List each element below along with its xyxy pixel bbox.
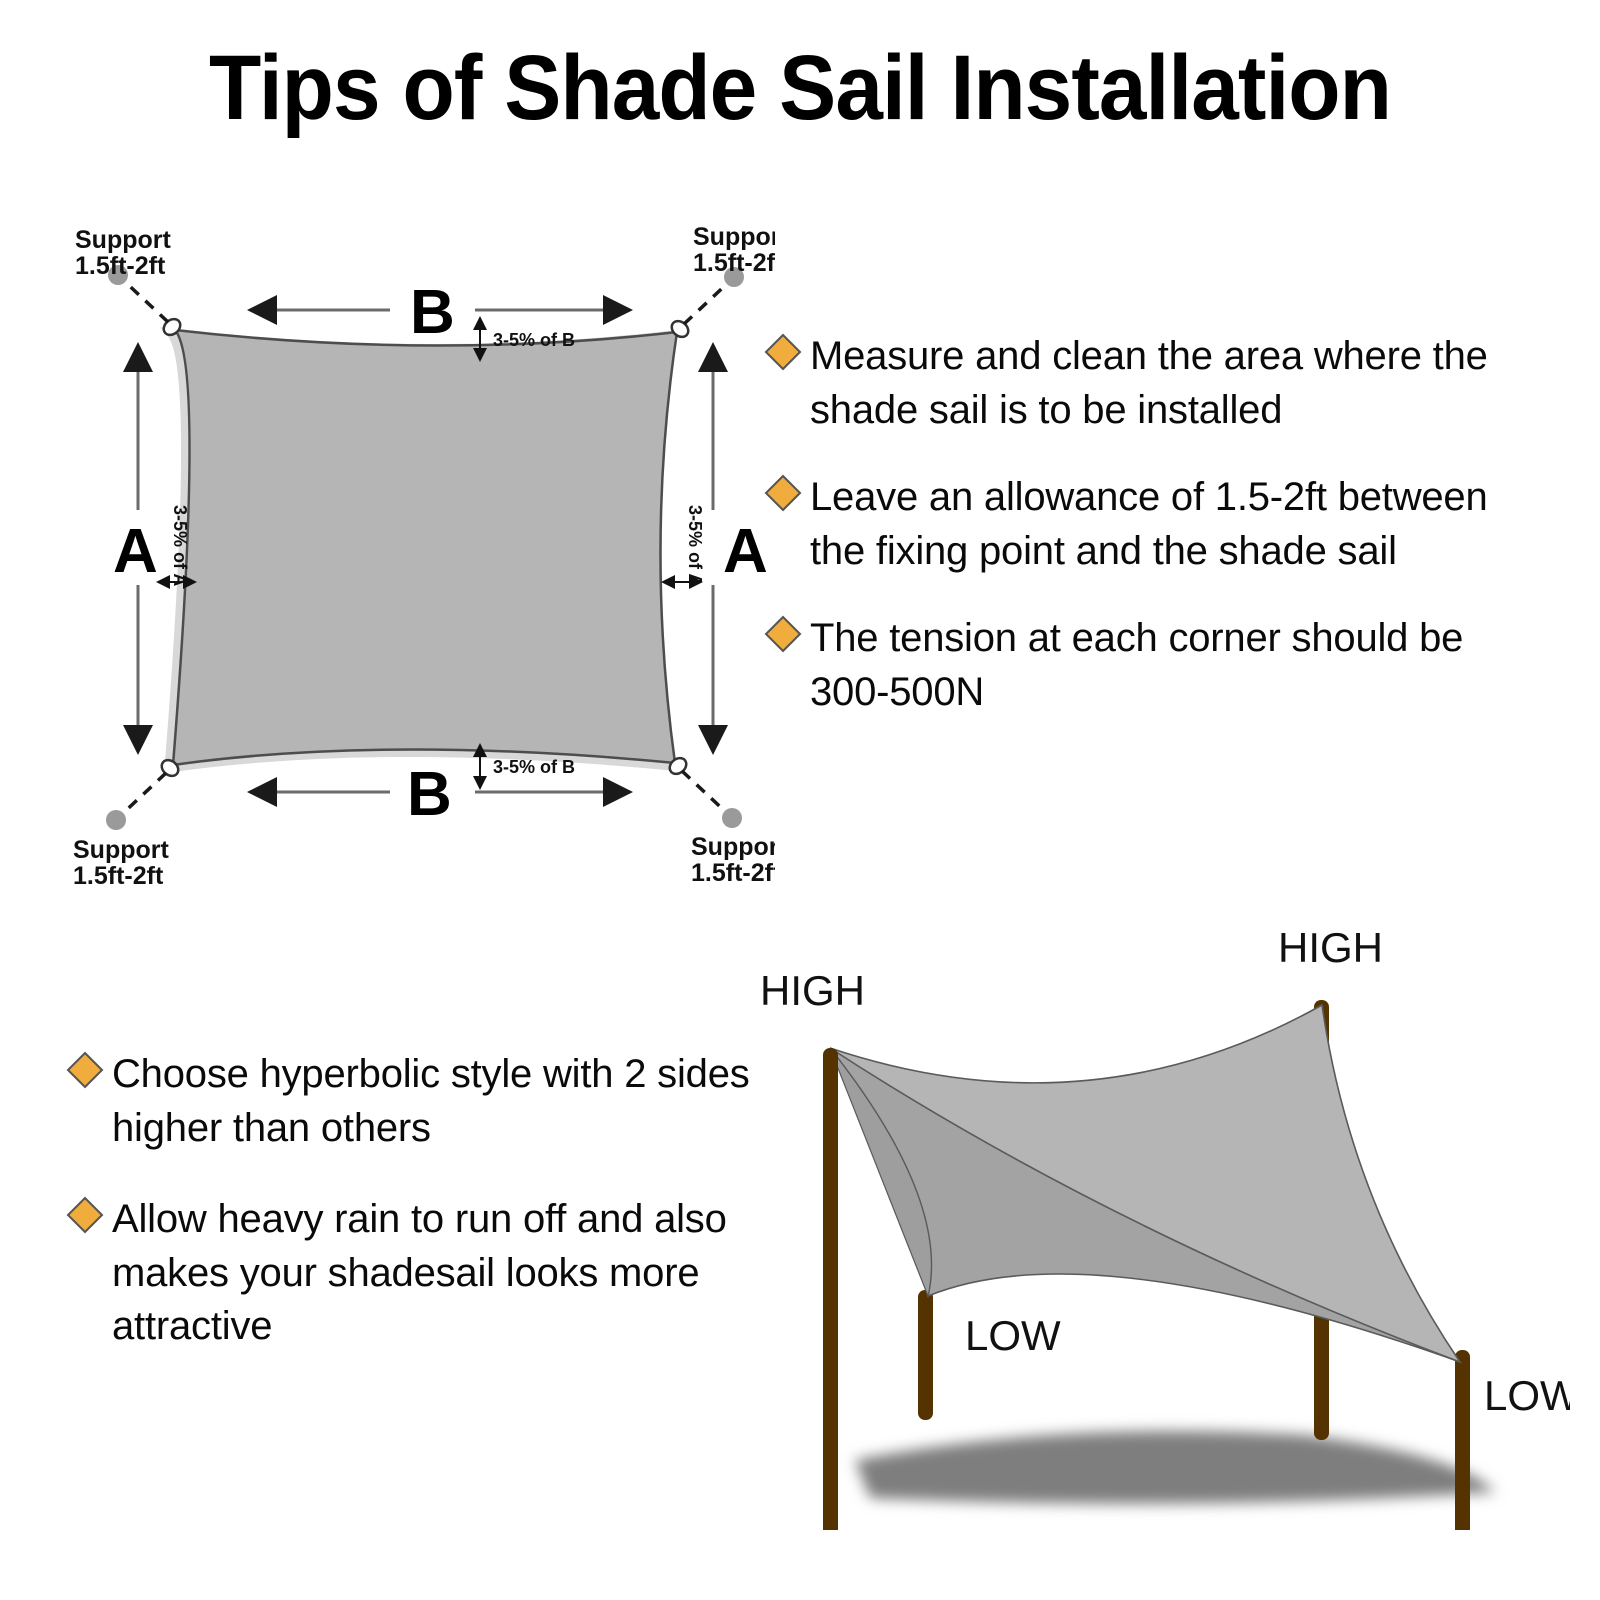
tip-measure-clean-text: Measure and clean the area where the sha… (810, 330, 1530, 437)
diamond-bullet-icon (765, 334, 802, 371)
dim-a-right-curve-label: 3-5% of A (685, 505, 705, 586)
diamond-bullet-icon (765, 616, 802, 653)
dim-b-top-letter: B (410, 278, 455, 347)
post-high-left (823, 1048, 838, 1530)
dim-b-bottom-curve-label: 3-5% of B (493, 757, 575, 777)
hyperbolic-sail-svg: HIGH HIGH LOW LOW (760, 900, 1570, 1530)
dim-a-left-letter: A (113, 517, 158, 586)
tip-tension-text: The tension at each corner should be 300… (810, 612, 1530, 719)
sail-fabric (169, 330, 677, 768)
diamond-bullet-icon (67, 1197, 104, 1234)
support-line-top-left (121, 278, 168, 322)
support-top-left-line1: Support (75, 226, 171, 254)
support-top-right-line1: Support (693, 223, 775, 251)
sail-shape (173, 330, 677, 765)
support-top-right-line2: 1.5ft-2ft (693, 249, 775, 277)
tip-rain-runoff-text: Allow heavy rain to run off and also mak… (112, 1193, 772, 1354)
square-sail-diagram: Support 1.5ft-2ft Support 1.5ft-2ft Supp… (55, 200, 775, 900)
post-low-right (1455, 1350, 1470, 1530)
post-label-high-right: HIGH (1278, 924, 1383, 971)
support-bottom-left-line1: Support (73, 836, 169, 864)
support-bottom-left-line2: 1.5ft-2ft (73, 862, 164, 890)
support-line-bottom-left (119, 773, 166, 817)
square-sail-svg: Support 1.5ft-2ft Support 1.5ft-2ft Supp… (55, 200, 775, 900)
support-bottom-right-line2: 1.5ft-2ft (691, 859, 775, 887)
diamond-bullet-icon (765, 475, 802, 512)
tips-list-left: Choose hyperbolic style with 2 sides hig… (72, 1048, 772, 1392)
post-label-low-right: LOW (1484, 1372, 1570, 1419)
support-line-top-right (684, 280, 731, 324)
tip-allowance: Leave an allowance of 1.5-2ft between th… (770, 471, 1530, 578)
dimension-a-right: A 3-5% of A (663, 345, 768, 752)
tip-hyperbolic-style: Choose hyperbolic style with 2 sides hig… (72, 1048, 772, 1155)
tip-hyperbolic-style-text: Choose hyperbolic style with 2 sides hig… (112, 1048, 772, 1155)
hyperbolic-sail-diagram: HIGH HIGH LOW LOW (760, 900, 1570, 1530)
tip-rain-runoff: Allow heavy rain to run off and also mak… (72, 1193, 772, 1354)
support-top-left-line2: 1.5ft-2ft (75, 252, 166, 280)
dim-a-left-curve-label: 3-5% of A (170, 505, 190, 586)
dim-b-top-curve-label: 3-5% of B (493, 330, 575, 350)
tip-measure-clean: Measure and clean the area where the sha… (770, 330, 1530, 437)
support-dot-bottom-left (106, 810, 126, 830)
dim-b-bottom-letter: B (407, 760, 452, 829)
support-line-bottom-right (682, 771, 729, 815)
dim-a-right-letter: A (723, 517, 768, 586)
support-dot-bottom-right (722, 808, 742, 828)
page-title: Tips of Shade Sail Installation (56, 42, 1544, 134)
ground-shadow (855, 1431, 1495, 1504)
tip-tension: The tension at each corner should be 300… (770, 612, 1530, 719)
support-bottom-right-line1: Support (691, 833, 775, 861)
diamond-bullet-icon (67, 1052, 104, 1089)
tip-allowance-text: Leave an allowance of 1.5-2ft between th… (810, 471, 1530, 578)
post-label-low-left: LOW (965, 1312, 1061, 1359)
post-label-high-left: HIGH (760, 967, 865, 1014)
post-low-left (918, 1290, 933, 1420)
tips-list-right: Measure and clean the area where the sha… (770, 330, 1530, 754)
